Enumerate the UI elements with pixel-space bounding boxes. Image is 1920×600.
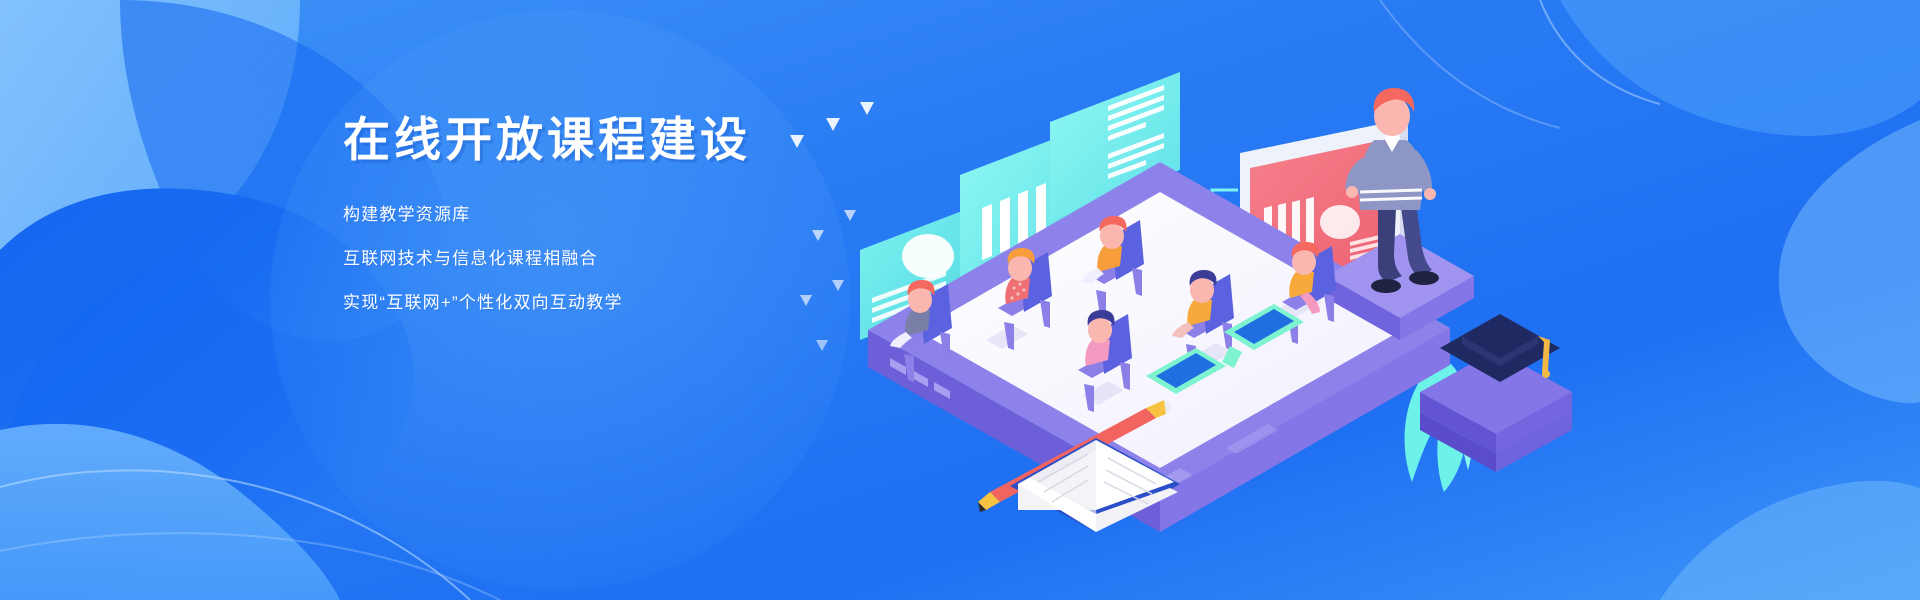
hero-banner: 在线开放课程建设 构建教学资源库 互联网技术与信息化课程相融合 实现“互联网+”…	[0, 0, 1920, 600]
classroom-illustration	[760, 40, 1920, 560]
classroom-illustration-svg	[760, 40, 1920, 560]
